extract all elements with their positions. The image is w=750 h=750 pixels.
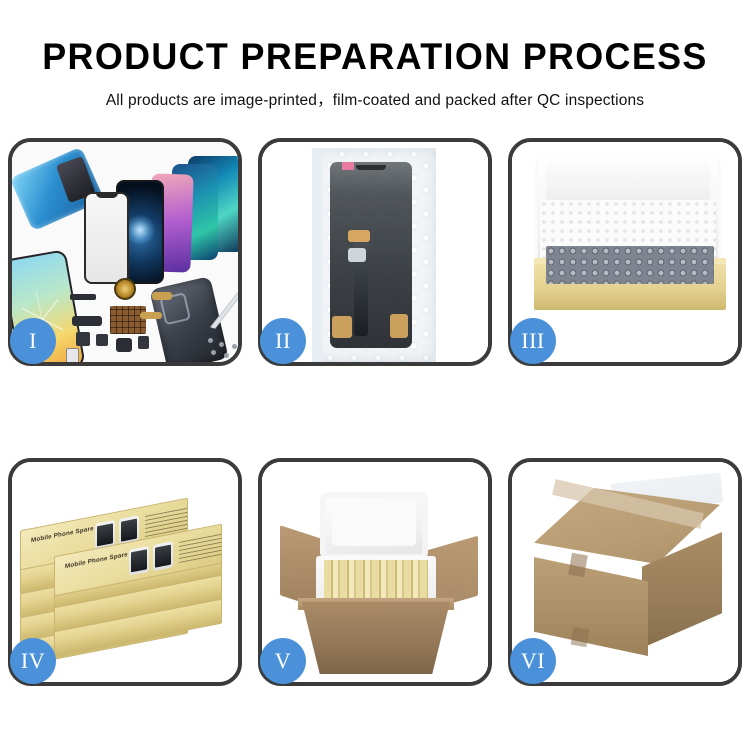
carton-body-image (302, 602, 450, 674)
flex-cable-part-b (140, 312, 162, 319)
step-panel-3[interactable]: III (508, 138, 742, 366)
pink-label-tag (342, 162, 354, 170)
bubble-wrapped-contents (546, 246, 714, 284)
product-preparation-infographic: PRODUCT PREPARATION PROCESS All products… (0, 0, 750, 750)
step-badge-4: IV (10, 638, 56, 684)
step-badge-5: V (260, 638, 306, 684)
step-panel-4[interactable]: Mobile Phone Spare Parts Mobile Phone Sp… (8, 458, 242, 686)
yellow-boxes-inside-image (324, 560, 428, 602)
step-panel-6[interactable]: VI (508, 458, 742, 686)
step-panel-5[interactable]: V (258, 458, 492, 686)
camera-module-part (72, 316, 102, 326)
connector-a (348, 230, 370, 242)
box-art-screen-c (129, 546, 149, 576)
carton-front-face (534, 546, 648, 656)
flex-cable-part-a (152, 292, 172, 300)
screws-group (208, 338, 238, 362)
yellow-box-tray-image (534, 264, 726, 310)
bag-seam (312, 148, 322, 362)
step-panel-1[interactable]: I (8, 138, 242, 366)
connector-c (332, 316, 352, 338)
step-badge-3: III (510, 318, 556, 364)
foam-lid-image (320, 492, 428, 560)
connector-b (348, 248, 366, 262)
carton-corner-tab-bottom (571, 627, 590, 648)
connector-d (390, 314, 408, 338)
page-subtitle: All products are image-printed，film-coat… (0, 88, 750, 110)
box-art-text-lines-front (179, 533, 221, 563)
earpiece-part (70, 294, 96, 300)
small-part-a (76, 332, 90, 346)
step-badge-6: VI (510, 638, 556, 684)
page-title: PRODUCT PREPARATION PROCESS (11, 38, 739, 75)
step-badge-1: I (10, 318, 56, 364)
bubble-wrap-bag-image (312, 148, 436, 362)
step-panel-2[interactable]: II (258, 138, 492, 366)
step-badge-2: II (260, 318, 306, 364)
sim-tray-part (66, 348, 79, 362)
small-part-b (96, 334, 108, 346)
small-part-c (138, 336, 149, 349)
spare-parts-cluster (70, 290, 180, 362)
white-glass-panel-image (84, 192, 129, 284)
speaker-part (116, 338, 132, 352)
box-art-screen-d (153, 541, 173, 571)
vibration-motor-part (114, 278, 136, 300)
steps-grid: I II (8, 138, 742, 690)
header: PRODUCT PREPARATION PROCESS All products… (0, 0, 750, 110)
ic-chip-part (110, 306, 146, 334)
